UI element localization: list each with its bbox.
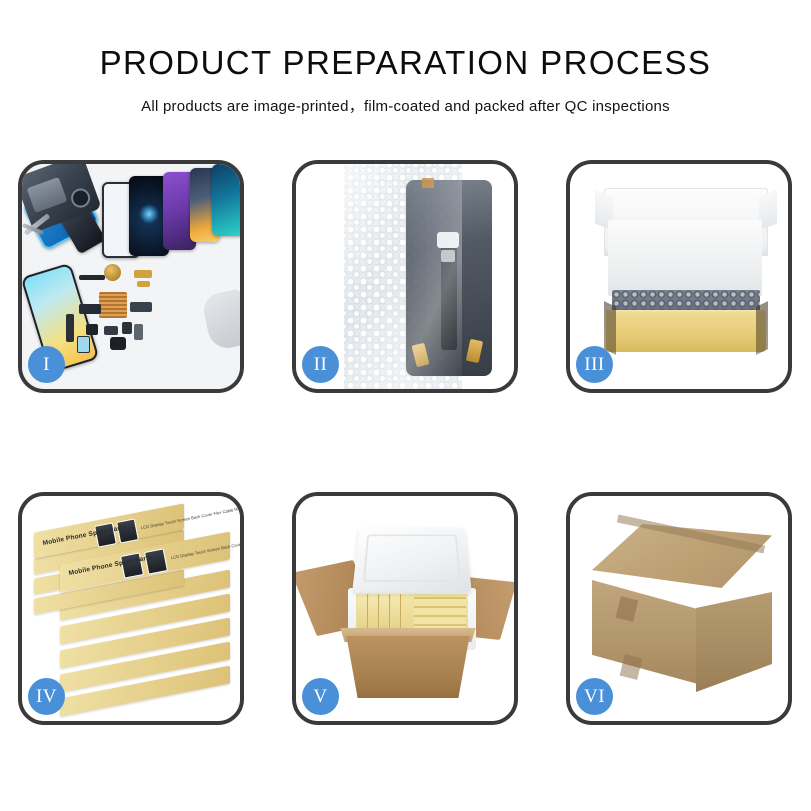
- step-badge-6: VI: [576, 678, 613, 715]
- step-badge-2: II: [302, 346, 339, 383]
- flex-cable-right-icon: [130, 302, 152, 312]
- step-panel-3: III: [566, 160, 792, 393]
- teal-phone-icon: [212, 164, 240, 236]
- step-panel-4: LCD Display Touch Screen Back Cover Flex…: [18, 492, 244, 725]
- bubble-wrap-sleeve-icon: [344, 164, 462, 389]
- product-preparation-infographic: PRODUCT PREPARATION PROCESS All products…: [0, 0, 811, 811]
- page-header: PRODUCT PREPARATION PROCESS All products…: [0, 0, 811, 116]
- process-steps-grid: I II: [18, 160, 793, 725]
- small-component-2-icon: [104, 326, 118, 335]
- step-panel-6: VI: [566, 492, 792, 725]
- carton-body-icon: [338, 636, 478, 698]
- camera-module-icon: [110, 337, 126, 350]
- styrofoam-lid-icon: [352, 528, 472, 593]
- step-badge-5: V: [302, 678, 339, 715]
- gold-flex-cable-icon: [134, 270, 152, 278]
- step-panel-2: II: [292, 160, 518, 393]
- step-badge-4: IV: [28, 678, 65, 715]
- page-title: PRODUCT PREPARATION PROCESS: [0, 0, 811, 82]
- wrapped-connector-mid-icon: [441, 250, 455, 262]
- speaker-bar-icon: [79, 275, 105, 280]
- page-subtitle: All products are image-printed，film-coat…: [0, 82, 811, 116]
- small-component-3-icon: [122, 322, 132, 334]
- side-strip-icon: [66, 314, 74, 342]
- white-foam-sheet-icon: [608, 220, 762, 296]
- flex-cable-left-icon: [79, 304, 101, 314]
- copper-mesh-icon: [99, 292, 127, 318]
- gold-box-front-icon: [606, 314, 766, 352]
- screen-chip-icon: [77, 336, 90, 353]
- battery-cell-icon: [134, 324, 143, 340]
- copper-coil-icon: [104, 264, 121, 281]
- small-component-1-icon: [86, 324, 98, 335]
- gold-connector-icon: [137, 281, 150, 287]
- step-badge-1: I: [28, 346, 65, 383]
- wrapped-connector-top-icon: [437, 232, 459, 248]
- step-panel-5: V: [292, 492, 518, 725]
- step-panel-1: I: [18, 160, 244, 393]
- tape-strip-icon: [422, 178, 434, 188]
- step-badge-3: III: [576, 346, 613, 383]
